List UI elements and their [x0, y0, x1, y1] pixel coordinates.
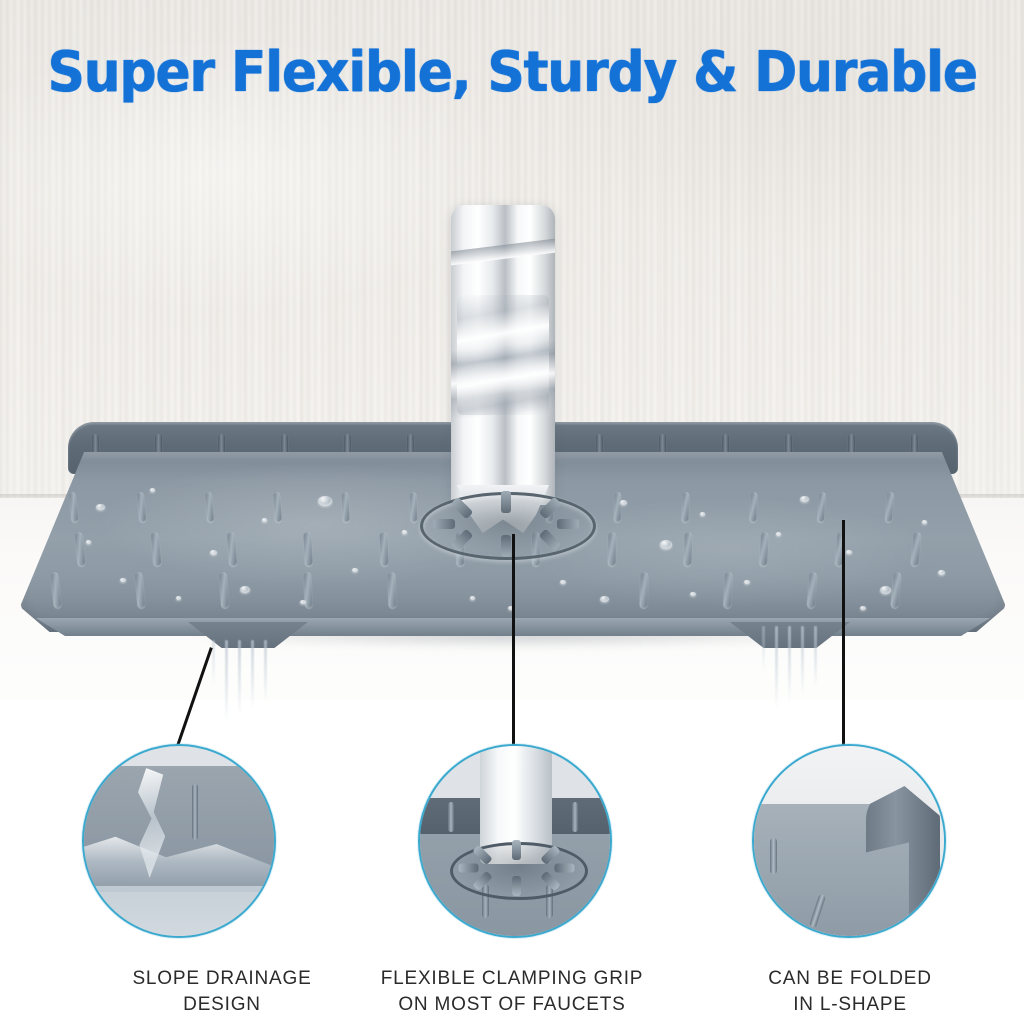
callout-1-image	[84, 746, 274, 936]
caption-3-line-1: CAN BE FOLDED	[690, 966, 1010, 992]
caption-folded-l-shape: CAN BE FOLDED IN L-SHAPE	[690, 966, 1010, 1018]
callout-2-image	[420, 746, 610, 936]
callout-3-image	[754, 746, 944, 936]
caption-clamping-grip: FLEXIBLE CLAMPING GRIP ON MOST OF FAUCET…	[352, 966, 672, 1018]
callout-1-ridge-nub	[192, 784, 198, 840]
caption-1-line-2: DESIGN	[62, 992, 382, 1018]
water-drip-right	[758, 626, 848, 716]
caption-3-line-2: IN L-SHAPE	[690, 992, 1010, 1018]
callout-clamping-grip[interactable]	[418, 744, 612, 938]
callout-folded-l-shape[interactable]	[752, 744, 946, 938]
caption-2-line-1: FLEXIBLE CLAMPING GRIP	[352, 966, 672, 992]
caption-slope-drainage: SLOPE DRAINAGE DESIGN	[62, 966, 382, 1018]
leader-line-center	[512, 534, 515, 746]
chrome-faucet	[443, 205, 563, 535]
leader-line-right	[842, 520, 845, 746]
caption-2-line-2: ON MOST OF FAUCETS	[352, 992, 672, 1018]
water-drip-left	[208, 640, 298, 730]
faucet-clamping-collar	[420, 492, 596, 560]
page-title: Super Flexible, Sturdy & Durable	[41, 40, 983, 105]
callout-2-collar	[450, 842, 588, 900]
caption-1-line-1: SLOPE DRAINAGE	[62, 966, 382, 992]
callout-slope-drainage[interactable]	[82, 744, 276, 938]
product-feature-image: Super Flexible, Sturdy & Durable SL	[0, 0, 1024, 1024]
faucet-reflection	[457, 295, 549, 415]
